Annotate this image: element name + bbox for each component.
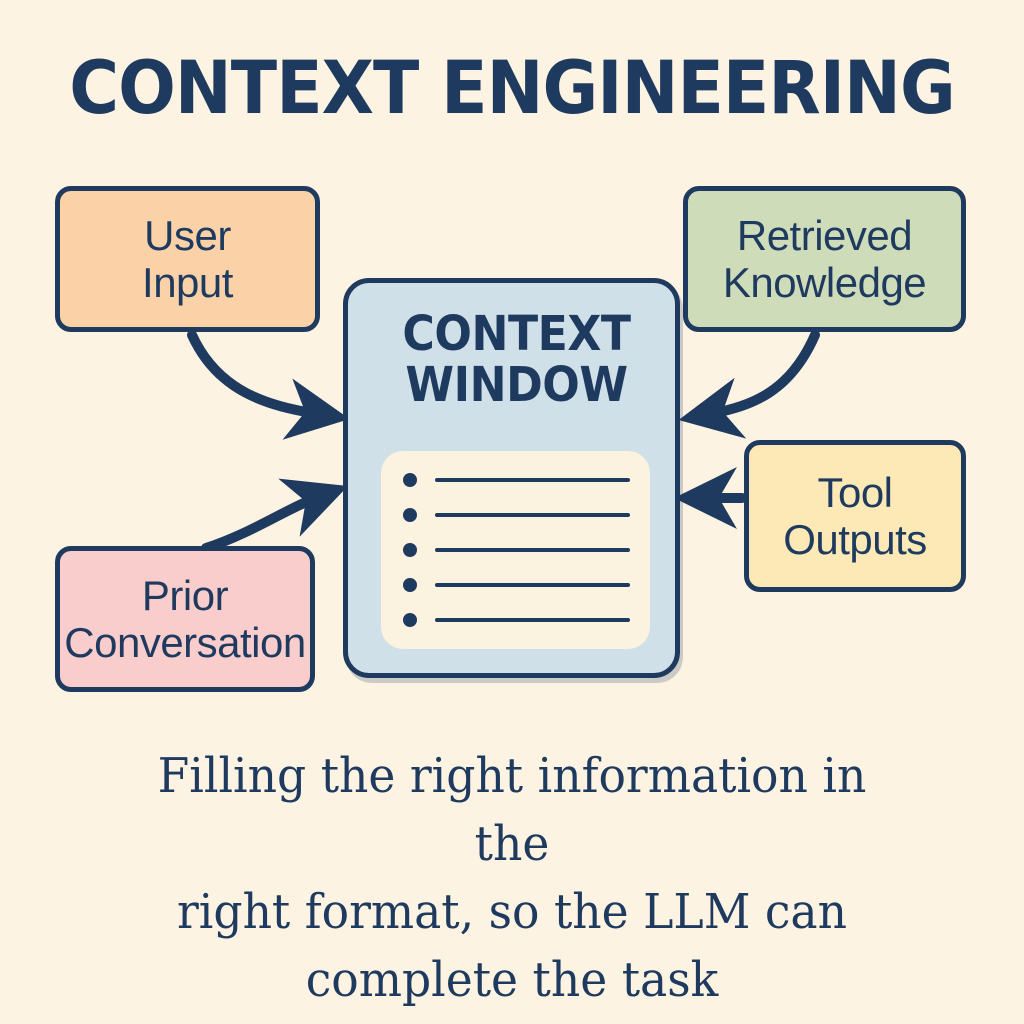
node-user-input[interactable]: User Input <box>55 186 320 332</box>
list-item-line <box>435 583 630 587</box>
node-tool-outputs[interactable]: Tool Outputs <box>744 440 966 592</box>
list-item <box>403 508 632 522</box>
node-user-input-label: User Input <box>142 212 233 306</box>
node-tool-outputs-label: Tool Outputs <box>783 469 927 563</box>
page-title: CONTEXT ENGINEERING <box>36 52 988 125</box>
node-retrieved-knowledge[interactable]: Retrieved Knowledge <box>683 186 966 332</box>
bullet-icon <box>403 508 417 522</box>
context-window-title: CONTEXT WINDOW <box>361 309 671 412</box>
arrow-retrieved-to-context <box>710 335 815 414</box>
caption-text: Filling the right information in the rig… <box>123 742 902 1015</box>
context-window-card <box>381 451 650 649</box>
list-item-line <box>435 618 630 622</box>
node-prior-conversation[interactable]: Prior Conversation <box>55 546 315 692</box>
list-item-line <box>435 478 630 482</box>
list-item-line <box>435 513 630 517</box>
bullet-icon <box>403 543 417 557</box>
bullet-icon <box>403 473 417 487</box>
list-item-line <box>435 548 630 552</box>
bullet-icon <box>403 578 417 592</box>
context-window-panel[interactable]: CONTEXT WINDOW <box>343 278 680 678</box>
diagram-canvas: CONTEXT ENGINEERING User Input Retrieved… <box>0 0 1024 1024</box>
arrow-user-input-to-context <box>192 335 318 414</box>
list-item <box>403 473 632 487</box>
list-item <box>403 613 632 627</box>
list-item <box>403 543 632 557</box>
arrow-prior-conv-to-context <box>206 497 318 548</box>
node-prior-conversation-label: Prior Conversation <box>60 572 310 666</box>
list-item <box>403 578 632 592</box>
node-retrieved-knowledge-label: Retrieved Knowledge <box>688 212 961 306</box>
bullet-icon <box>403 613 417 627</box>
